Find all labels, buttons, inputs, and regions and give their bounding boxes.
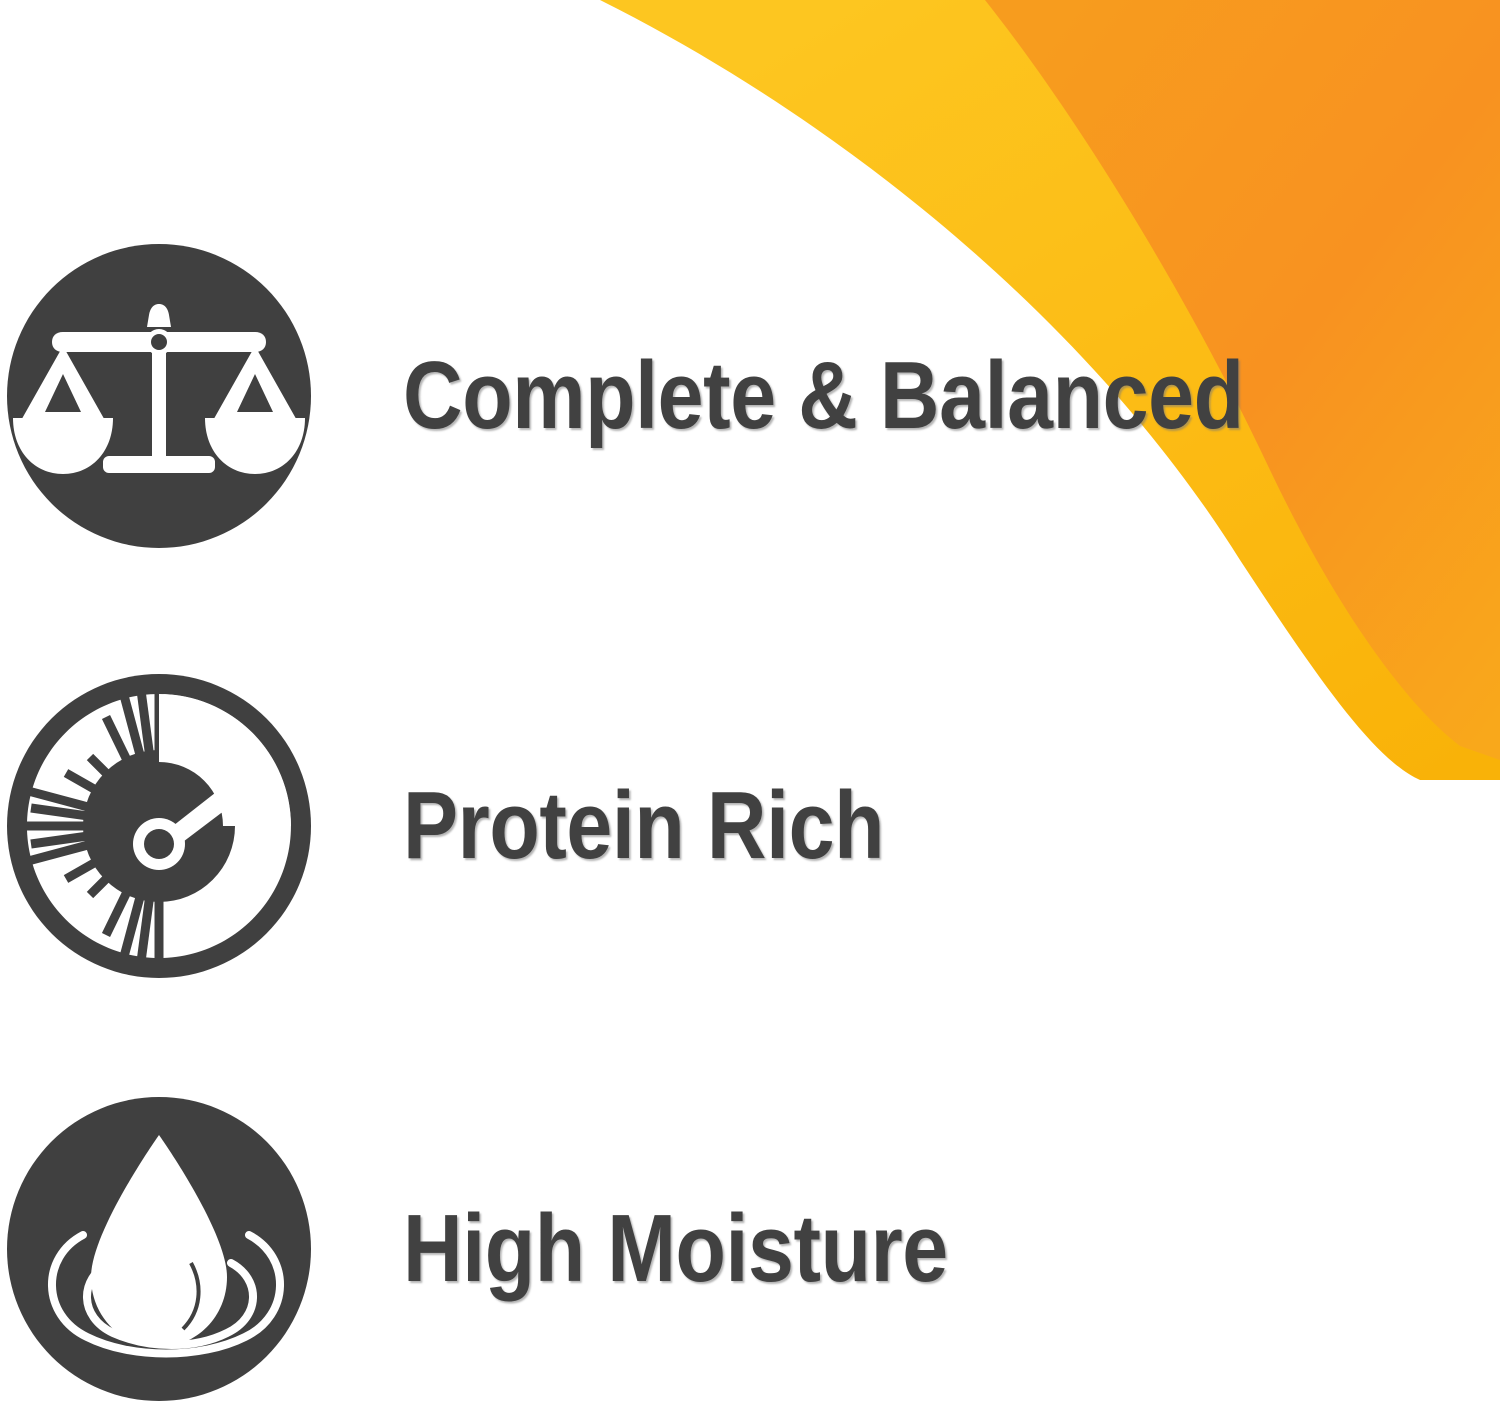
water-droplet-icon xyxy=(5,1095,313,1403)
balance-scale-icon xyxy=(5,242,313,550)
balance-scale-badge xyxy=(5,242,313,550)
feature-label-protein-rich: Protein Rich xyxy=(403,778,884,874)
feature-row-protein-rich: Protein Rich xyxy=(0,672,1200,980)
speedometer-gauge-icon xyxy=(5,672,313,980)
feature-label-high-moisture: High Moisture xyxy=(403,1201,948,1297)
feature-row-complete-and-balanced: Complete & Balanced xyxy=(0,242,1200,550)
feature-row-high-moisture: High Moisture xyxy=(0,1095,1200,1403)
speedometer-gauge-badge xyxy=(5,672,313,980)
infographic-canvas: Complete & Balanced xyxy=(0,0,1500,1411)
feature-label-complete-and-balanced: Complete & Balanced xyxy=(403,348,1244,444)
water-droplet-badge xyxy=(5,1095,313,1403)
fulcrum-pivot xyxy=(151,334,167,350)
gauge-needle-hub xyxy=(144,829,174,859)
